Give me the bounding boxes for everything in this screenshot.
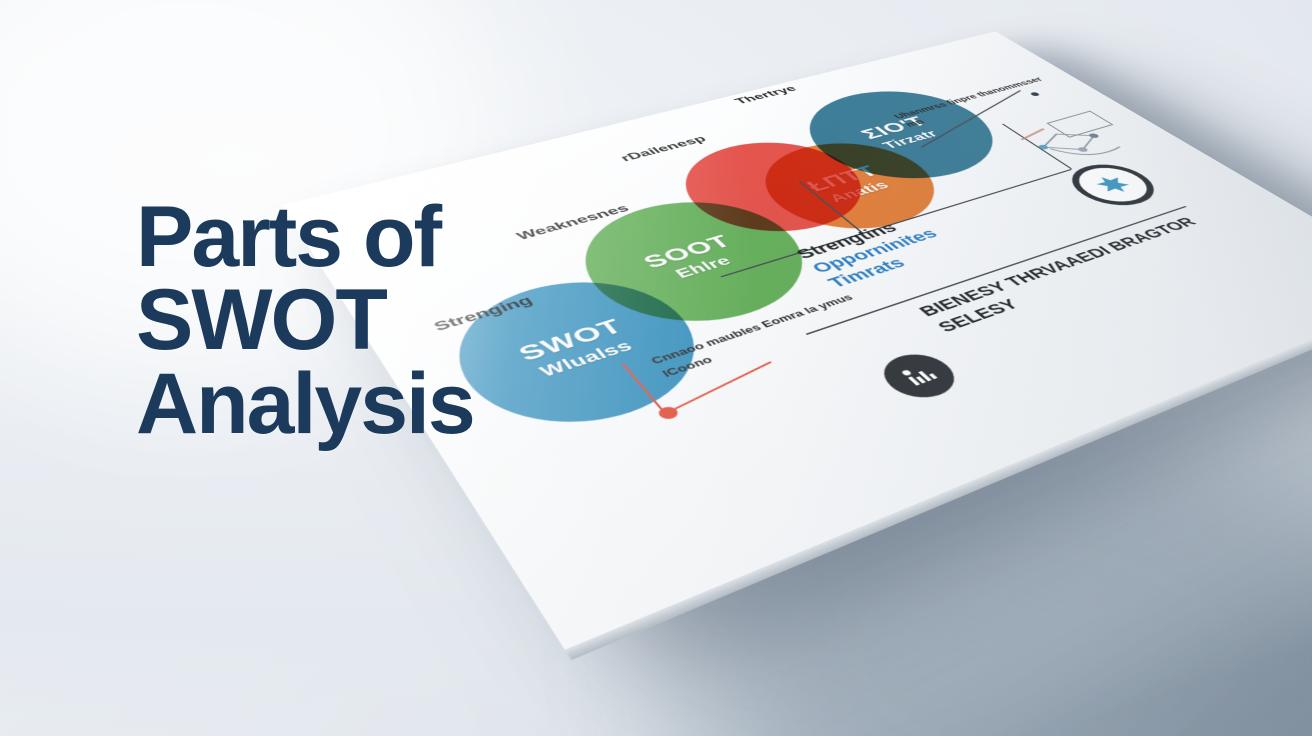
title-line-2: SWOT (136, 279, 656, 362)
target-icon-star (1089, 173, 1137, 196)
red-marker-dot (656, 405, 682, 421)
red-marker-arm (666, 361, 772, 413)
venn-axis-label-threats: Thertrye (732, 84, 800, 106)
page-title: Parts of SWOT Analysis (136, 196, 656, 446)
title-line-3: Analysis (136, 363, 656, 446)
note-caption: Cnnaoo maubles Eomra la ymus lCoono (647, 288, 878, 380)
title-line-1: Parts of (136, 196, 656, 279)
bar-chart-icon (870, 347, 968, 405)
banner-canvas: Parts of SWOT Analysis Strenging Weaknes… (0, 0, 1312, 736)
